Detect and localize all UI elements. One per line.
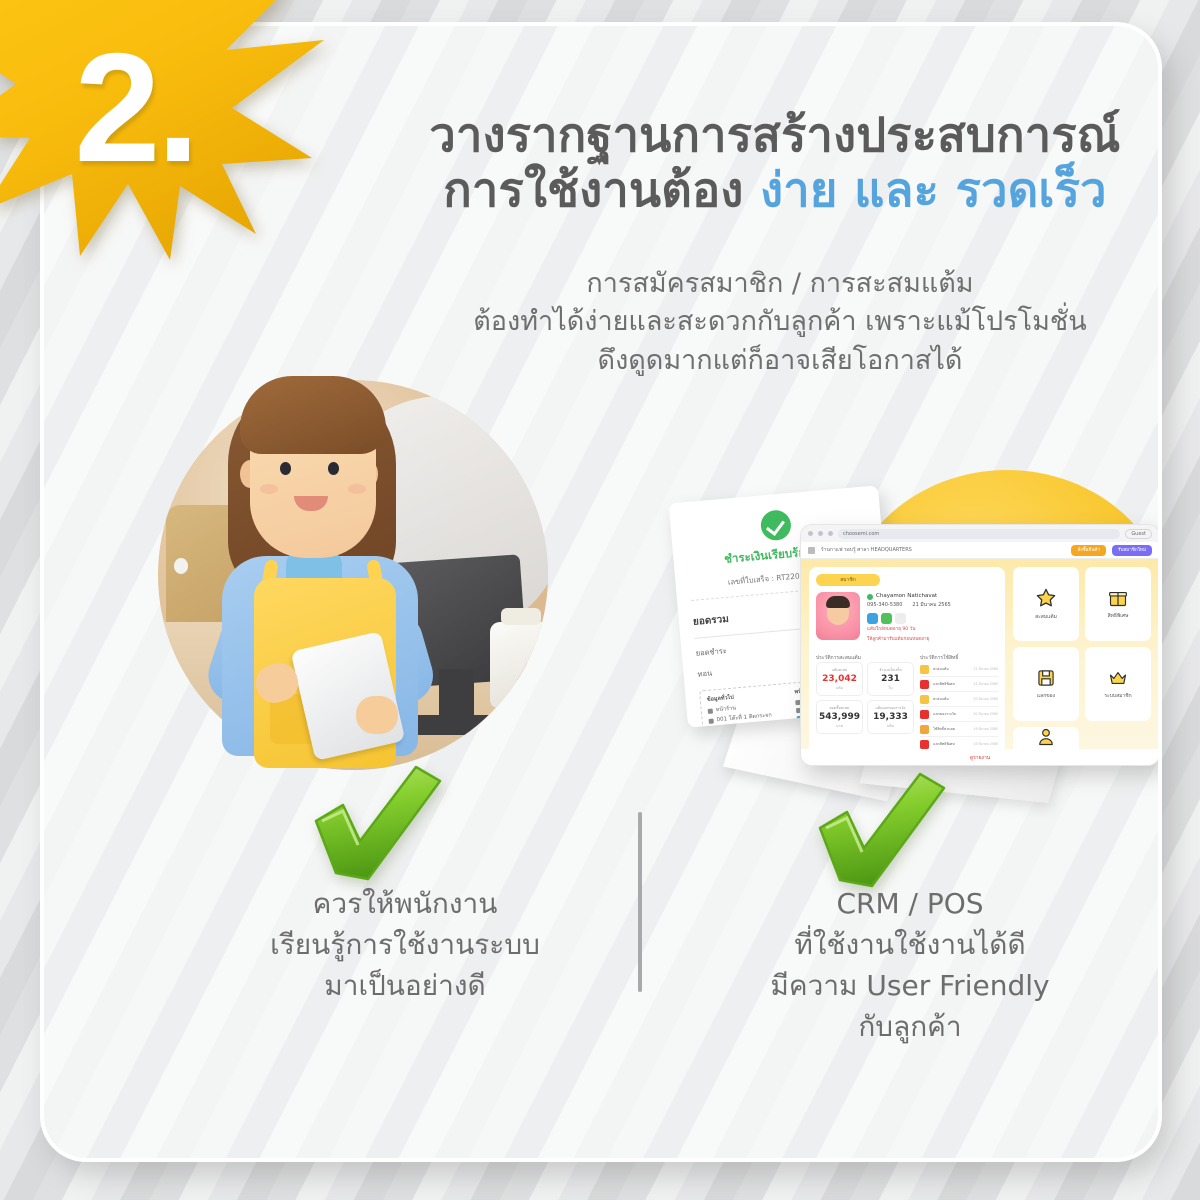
- line-icon[interactable]: [881, 613, 892, 624]
- stat-unit: บาท: [819, 723, 860, 729]
- history-type-icon: [920, 695, 929, 704]
- customer-name: Chayamon Natichavat: [876, 592, 937, 601]
- forward-icon[interactable]: [818, 531, 823, 536]
- caption-left-line-2: เรียนรู้การใช้งานระบบ: [205, 925, 605, 966]
- history-row[interactable]: สะสมแต้ม 21 มีนาคม 2565: [920, 662, 998, 677]
- history-title: สะสมแต้ม: [933, 667, 970, 672]
- history-type-icon: [920, 725, 929, 734]
- history-type-icon: [920, 710, 929, 719]
- messenger-icon[interactable]: [867, 613, 878, 624]
- caption-left-line-3: มาเป็นอย่างดี: [205, 966, 605, 1007]
- check-icon: [298, 757, 448, 887]
- history-type-icon: [920, 740, 929, 749]
- guest-profile-button[interactable]: Guest: [1125, 529, 1152, 539]
- hand-right: [356, 696, 398, 734]
- caption-left: ควรให้พนักงาน เรียนรู้การใช้งานระบบ มาเป…: [205, 884, 605, 1007]
- staff-illustration: [148, 352, 568, 782]
- stat-card: แต้มแลกของรางวัล 19,333 แต้ม: [867, 700, 914, 734]
- caption-right-line-4: กับลูกค้า: [700, 1007, 1120, 1048]
- history-date: 20 มีนาคม 2565: [974, 712, 999, 717]
- tile-label: สิทธิพิเศษ: [1108, 612, 1129, 620]
- social-links: [867, 613, 998, 624]
- history-header: ประวัติการใช้สิทธิ์: [920, 654, 998, 662]
- coffee-jar: [490, 622, 549, 708]
- tile-redeem[interactable]: แลกของ: [1013, 647, 1079, 721]
- stat-card: จำนวนใบเสร็จ 231 ใบ: [867, 662, 914, 696]
- store-icon: [708, 708, 713, 713]
- verified-icon: [867, 594, 873, 600]
- headline-block: วางรากฐานการสร้างประสบการณ์ การใช้งานต้อ…: [370, 108, 1162, 219]
- stats-header: ประวัติการสะสมแต้ม: [816, 654, 914, 662]
- history-title: แลกสิทธิพิเศษ: [933, 742, 970, 747]
- caption-right-line-3: มีความ User Friendly: [700, 966, 1120, 1007]
- receipt-total-label: ยอดรวม: [692, 612, 729, 630]
- shelf-dot: [174, 558, 188, 574]
- headline-line-2: การใช้งานต้อง ง่าย และ รวดเร็ว: [370, 163, 1162, 218]
- customer-profile: Chayamon Natichavat 095-340-5380 21 มีนา…: [816, 592, 998, 643]
- step-number: 2.: [40, 12, 230, 202]
- quick-action-tiles: สะสมแต้ม สิทธิพิเศษ: [1013, 567, 1151, 759]
- reload-icon[interactable]: [828, 531, 833, 536]
- app-header: ร้านกาแฟ รอบรู้ ศาลา HEADQUARTERS สั่งซื…: [801, 542, 1159, 559]
- gift-icon: [1108, 588, 1128, 608]
- tile-collect-points[interactable]: สะสมแต้ม: [1013, 567, 1079, 641]
- eye-left: [280, 462, 291, 475]
- subheadline-line-2: ต้องทำได้ง่ายและสะดวกกับลูกค้า เพราะแม้โ…: [420, 303, 1140, 341]
- customer-card: สมาชิก Chayamon Natichavat 095-34: [809, 567, 1005, 759]
- headline-line-1: วางรากฐานการสร้างประสบการณ์: [370, 108, 1162, 163]
- check-mark-right: [802, 764, 952, 894]
- eye-right: [328, 462, 339, 475]
- column-divider: [638, 812, 642, 992]
- caption-right-line-2: ที่ใช้งานใช้งานได้ดี: [700, 925, 1120, 966]
- history-title: แลกสิทธิพิเศษ: [933, 682, 970, 687]
- person-icon: [1036, 727, 1056, 747]
- stat-unit: แต้ม: [819, 685, 860, 691]
- stat-value: 19,333: [870, 712, 911, 722]
- customer-birthday: 21 มีนาคม 2565: [912, 601, 950, 610]
- back-icon[interactable]: [808, 531, 813, 536]
- history-row[interactable]: สะสมแต้ม 20 มีนาคม 2565: [920, 692, 998, 707]
- table-icon: [708, 718, 713, 723]
- history-title: สะสมแต้ม: [933, 697, 970, 702]
- receipt-info-text: 4 คน: [717, 725, 730, 728]
- history-date: 20 มีนาคม 2565: [974, 697, 999, 702]
- caption-right-line-1: CRM / POS: [700, 884, 1120, 925]
- subheadline-line-1: การสมัครสมาชิก / การสะสมแต้ม: [420, 265, 1140, 303]
- receipt-info-text: หน้าร้าน: [715, 705, 736, 715]
- history-date: 19 มีนาคม 2565: [974, 742, 999, 747]
- cheek-right: [348, 484, 366, 494]
- tile-membership[interactable]: ระบบสมาชิก: [1085, 647, 1151, 721]
- stat-label: จำนวนใบเสร็จ: [870, 667, 911, 673]
- box-icon: [1036, 668, 1056, 688]
- stat-label: ยอดซื้อสะสม: [819, 705, 860, 711]
- tile-label: สะสมแต้ม: [1035, 613, 1057, 621]
- crm-browser-window: choosemi.com Guest ร้านกาแฟ รอบรู้ ศาลา …: [800, 524, 1160, 766]
- tile-privileges[interactable]: สิทธิพิเศษ: [1085, 567, 1151, 641]
- avatar: [816, 592, 860, 640]
- success-check-icon: [760, 509, 793, 542]
- stat-unit: ใบ: [870, 685, 911, 691]
- stat-card: ยอดซื้อสะสม 543,999 บาท: [816, 700, 863, 734]
- stat-card: แต้มสะสม 23,042 แต้ม: [816, 662, 863, 696]
- headline-line-2-accent: ง่าย และ รวดเร็ว: [760, 163, 1107, 218]
- customer-info: Chayamon Natichavat 095-340-5380 21 มีนา…: [867, 592, 998, 643]
- expiry-note: ให้ลูกค้ามารับแต้มก่อนหมดอายุ: [867, 636, 998, 644]
- star-icon: [1035, 587, 1057, 609]
- poster-canvas: วางรากฐานการสร้างประสบการณ์ การใช้งานต้อ…: [0, 0, 1200, 1200]
- tile-label: ระบบสมาชิก: [1104, 692, 1131, 700]
- crown-icon: [1107, 668, 1129, 688]
- address-bar[interactable]: choosemi.com: [838, 529, 1120, 539]
- customer-meta: 095-340-5380 21 มีนาคม 2565: [867, 601, 998, 610]
- history-row[interactable]: แลกของรางวัล 20 มีนาคม 2565: [920, 707, 998, 722]
- menu-icon[interactable]: [808, 547, 815, 554]
- browser-toolbar: choosemi.com Guest: [801, 525, 1159, 542]
- crm-grid: สมาชิก Chayamon Natichavat 095-34: [809, 567, 1151, 759]
- history-type-icon: [920, 680, 929, 689]
- step-number-burst: 2.: [0, 0, 324, 268]
- caption-left-line-1: ควรให้พนักงาน: [205, 884, 605, 925]
- caption-right: CRM / POS ที่ใช้งานใช้งานได้ดี มีความ Us…: [700, 884, 1120, 1048]
- receipt-change-label: ทอน: [697, 667, 713, 680]
- tile-label: แลกของ: [1037, 692, 1055, 700]
- stat-unit: แต้ม: [870, 723, 911, 729]
- customer-phone: 095-340-5380: [867, 601, 902, 610]
- check-icon: [802, 764, 952, 894]
- store-name: ร้านกาแฟ รอบรู้ ศาลา HEADQUARTERS: [821, 546, 1065, 554]
- staff-character: [206, 364, 436, 764]
- history-title: ใช้สิทธิ์ส่วนลด: [933, 727, 970, 732]
- add-channel-icon[interactable]: [895, 613, 906, 624]
- primary-action-button[interactable]: สั่งซื้อสินค้า: [1071, 545, 1106, 556]
- stat-value: 23,042: [819, 674, 860, 684]
- crm-pos-illustration: ชำระเงินเรียบร้อยแล้ว เลขที่ใบเสร็จ : RT…: [640, 452, 1162, 812]
- stat-label: แต้มแลกของรางวัล: [870, 705, 911, 711]
- crm-dashboard-body: สมาชิก Chayamon Natichavat 095-34: [801, 559, 1159, 766]
- expiry-warning: แต้มใกล้หมดอายุ 90 วัน: [867, 626, 998, 634]
- history-title: แลกของรางวัล: [933, 712, 970, 717]
- stat-label: แต้มสะสม: [819, 667, 860, 673]
- receipt-paid-label: ยอดชำระ: [695, 645, 727, 660]
- customer-name-row: Chayamon Natichavat: [867, 592, 998, 601]
- history-date: 19 มีนาคม 2565: [974, 727, 999, 732]
- stat-value: 231: [870, 674, 911, 684]
- stat-value: 543,999: [819, 712, 860, 722]
- stats-grid: แต้มสะสม 23,042 แต้ม จำนวนใบเสร็จ 231 ใบ: [816, 662, 914, 734]
- member-tag-badge: สมาชิก: [816, 574, 880, 586]
- history-row[interactable]: แลกสิทธิพิเศษ 21 มีนาคม 2565: [920, 677, 998, 692]
- history-type-icon: [920, 665, 929, 674]
- hair-front: [240, 376, 386, 454]
- headline-line-2-prefix: การใช้งานต้อง: [443, 163, 760, 218]
- check-mark-left: [298, 757, 448, 887]
- cheek-left: [260, 484, 278, 494]
- secondary-action-button[interactable]: รับสมาชิกใหม่: [1112, 545, 1152, 556]
- history-date: 21 มีนาคม 2565: [974, 667, 999, 672]
- history-row[interactable]: ใช้สิทธิ์ส่วนลด 19 มีนาคม 2565: [920, 722, 998, 737]
- history-date: 21 มีนาคม 2565: [974, 682, 999, 687]
